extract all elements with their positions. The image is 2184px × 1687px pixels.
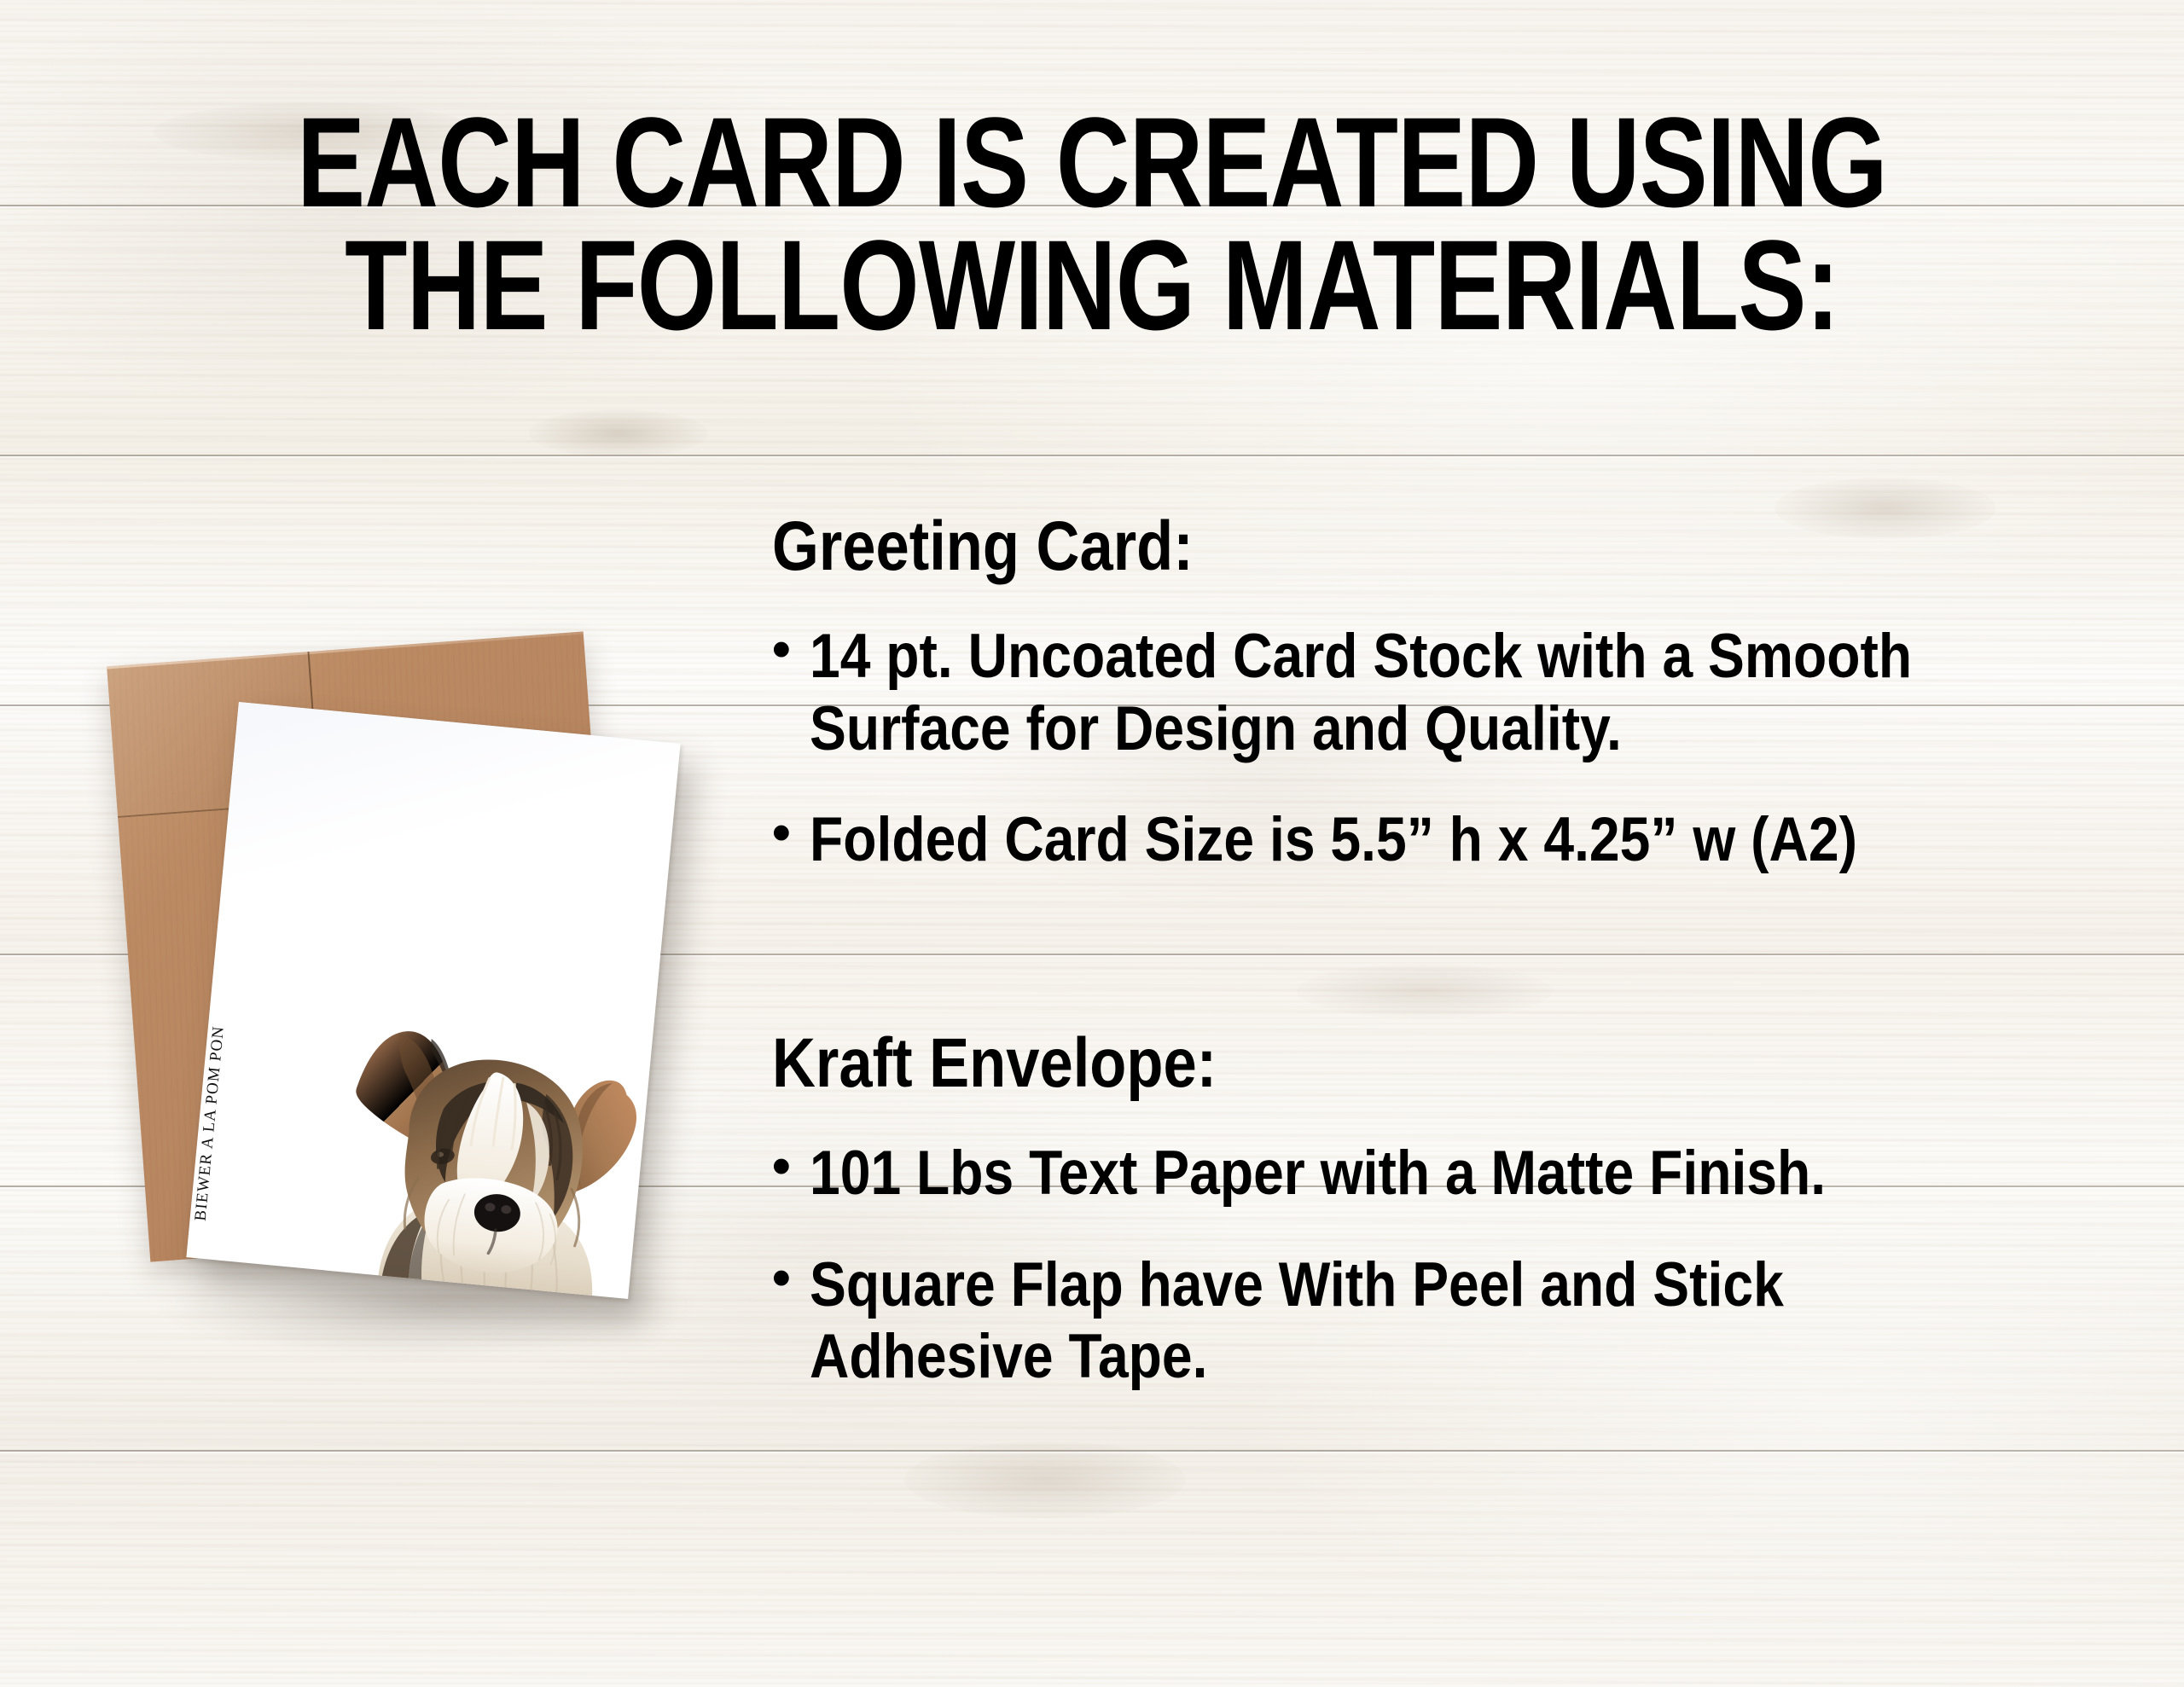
plank-seam-line [0, 205, 2184, 209]
bullet-text: 14 pt. Uncoated Card Stock with a Smooth… [810, 621, 2001, 765]
bullet-text: Folded Card Size is 5.5” h x 4.25” w (A2… [810, 804, 2001, 877]
puppy-illustration-icon [327, 997, 659, 1299]
wood-knot [529, 409, 708, 457]
bullet-text: 101 Lbs Text Paper with a Matte Finish. [810, 1138, 2001, 1210]
section-heading-kraft-envelope: Kraft Envelope: [772, 1029, 1968, 1099]
greeting-card-bullet-list: 14 pt. Uncoated Card Stock with a Smooth… [772, 621, 2163, 877]
plank-seam-line [0, 1450, 2184, 1454]
product-mockup: BIEWER A LA POM PON [85, 597, 785, 1382]
section-kraft-envelope: Kraft Envelope: 101 Lbs Text Paper with … [772, 1029, 2163, 1394]
section-heading-greeting-card: Greeting Card: [772, 512, 1968, 582]
list-item: Square Flap have With Peel and Stick Adh… [772, 1249, 2163, 1394]
list-item: 101 Lbs Text Paper with a Matte Finish. [772, 1138, 2163, 1210]
plank-seam-line [0, 455, 2184, 459]
materials-spec-list: Greeting Card: 14 pt. Uncoated Card Stoc… [772, 512, 2163, 1394]
list-item: Folded Card Size is 5.5” h x 4.25” w (A2… [772, 804, 2163, 877]
section-greeting-card: Greeting Card: 14 pt. Uncoated Card Stoc… [772, 512, 2163, 877]
greeting-card-graphic: BIEWER A LA POM PON [186, 702, 680, 1299]
wood-knot [154, 102, 478, 162]
bullet-text: Square Flap have With Peel and Stick Adh… [810, 1249, 2001, 1394]
kraft-envelope-bullet-list: 101 Lbs Text Paper with a Matte Finish. … [772, 1138, 2163, 1394]
list-item: 14 pt. Uncoated Card Stock with a Smooth… [772, 621, 2163, 765]
